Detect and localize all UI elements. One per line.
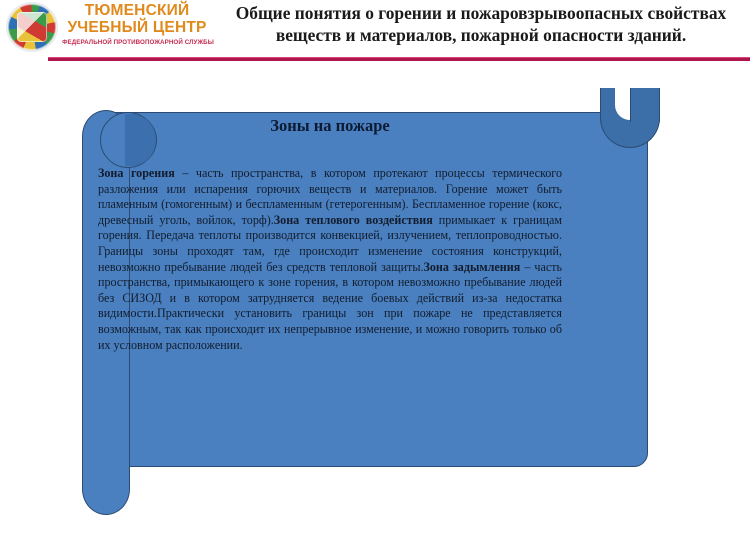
paragraph-lead-thermal-zone: Зона теплового воздействия bbox=[274, 213, 433, 227]
paragraph-lead-combustion-zone: Зона горения bbox=[98, 166, 175, 180]
organization-name: ТЮМЕНСКИЙ УЧЕБНЫЙ ЦЕНТР bbox=[62, 2, 212, 36]
scroll-top-right-curl-stem bbox=[630, 88, 660, 122]
paragraph-lead-smoke-zone: Зона задымления bbox=[423, 260, 520, 274]
slide-header: ТЮМЕНСКИЙ УЧЕБНЫЙ ЦЕНТР ФЕДЕРАЛЬНОЙ ПРОТ… bbox=[0, 0, 750, 56]
organization-subtitle: ФЕДЕРАЛЬНОЙ ПРОТИВОПОЖАРНОЙ СЛУЖБЫ bbox=[62, 39, 214, 47]
panel-title: Зоны на пожаре bbox=[98, 116, 562, 136]
fire-service-emblem-icon bbox=[6, 2, 58, 52]
panel-content: Зоны на пожаре Зона горения – часть прос… bbox=[98, 116, 562, 353]
slide-canvas: ТЮМЕНСКИЙ УЧЕБНЫЙ ЦЕНТР ФЕДЕРАЛЬНОЙ ПРОТ… bbox=[0, 0, 750, 541]
slide-title: Общие понятия о горении и пожаровзрывооп… bbox=[214, 3, 748, 46]
header-divider-rule bbox=[48, 57, 750, 61]
paragraph-combustion-zone: Зона горения – часть пространства, в кот… bbox=[98, 166, 562, 353]
organization-logo-block: ТЮМЕНСКИЙ УЧЕБНЫЙ ЦЕНТР ФЕДЕРАЛЬНОЙ ПРОТ… bbox=[2, 1, 214, 53]
paragraph-text-conclusion: Практически установить границы зон при п… bbox=[98, 306, 562, 351]
